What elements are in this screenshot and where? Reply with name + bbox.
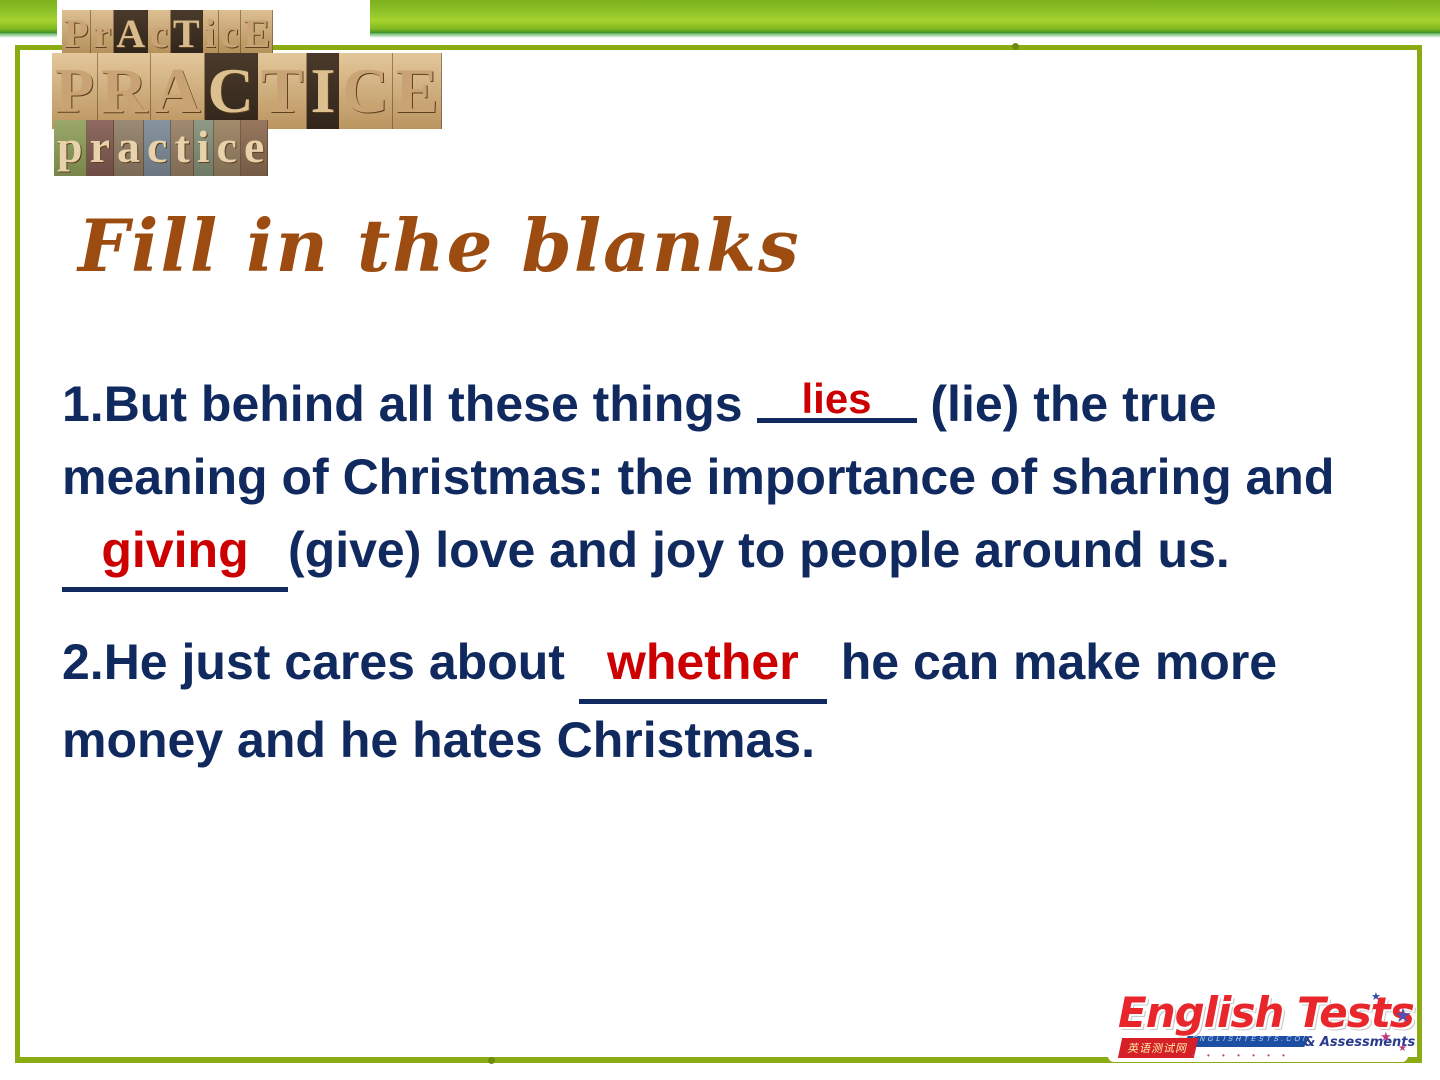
exercise-2-number: 2.	[62, 634, 104, 690]
wordart-tile: C	[205, 53, 258, 129]
wordart-tile: P	[62, 10, 91, 58]
wordart-tile: P	[52, 53, 98, 129]
logo-dot-row: • • • • • • •	[1192, 1051, 1290, 1060]
star-icon: ★	[1398, 1044, 1407, 1054]
exercise-1-text-after-blank-2: (give) love and joy to people around us.	[288, 522, 1230, 578]
wordart-tile: c	[214, 120, 241, 176]
wordart-line-2: PRACTICE	[52, 53, 442, 129]
wordart-tile: I	[307, 53, 339, 129]
exercise-list: 1.But behind all these things lies (lie)…	[62, 368, 1372, 777]
wordart-line-3: practice	[54, 120, 268, 176]
wordart-tile: A	[151, 53, 204, 129]
exercise-item-1: 1.But behind all these things lies (lie)…	[62, 368, 1372, 592]
frame-dot-bottom	[488, 1057, 495, 1064]
exercise-1-number: 1.	[62, 376, 104, 432]
logo-main-text: English Tests	[1118, 988, 1414, 1037]
star-icon: ★	[1394, 1006, 1412, 1026]
frame-dot-top-right	[1012, 43, 1019, 50]
wordart-tile: T	[258, 53, 308, 129]
wordart-tile: A	[114, 10, 148, 58]
practice-wordart-image: PrAcTicE PRACTICE practice	[52, 8, 397, 183]
header-band-glow	[370, 33, 1440, 38]
wordart-tile: r	[91, 10, 114, 58]
blank-answer-whether[interactable]: whether	[579, 626, 827, 704]
wordart-tile: T	[171, 10, 203, 58]
header-band-left-glow	[0, 33, 57, 38]
exercise-item-2: 2.He just cares about whether he can mak…	[62, 626, 1372, 777]
english-tests-logo: English Tests ENGLISHTESTS.COM 英语测试网 • •…	[1108, 978, 1416, 1070]
star-icon: ★	[1380, 1030, 1392, 1043]
wordart-tile: c	[219, 10, 242, 58]
exercise-1-text-before-blank-1: But behind all these things	[104, 376, 757, 432]
header-band-left-segment	[0, 0, 57, 33]
blank-answer-giving[interactable]: giving	[62, 514, 288, 592]
wordart-tile: i	[203, 10, 219, 58]
logo-chinese-badge: 英语测试网	[1118, 1038, 1198, 1058]
header-green-band	[370, 0, 1440, 33]
page-title: Fill in the blanks	[78, 203, 801, 288]
logo-bar-text: ENGLISHTESTS.COM	[1191, 1036, 1305, 1043]
wordart-tile: C	[339, 53, 392, 129]
wordart-tile: i	[194, 120, 214, 176]
wordart-tile: p	[54, 120, 87, 176]
wordart-tile: E	[393, 53, 443, 129]
blank-answer-lies[interactable]: lies	[757, 380, 917, 423]
wordart-tile: t	[171, 120, 193, 176]
wordart-tile: a	[114, 120, 144, 176]
wordart-line-1: PrAcTicE	[62, 10, 273, 58]
wordart-tile: E	[241, 10, 273, 58]
wordart-tile: c	[144, 120, 171, 176]
wordart-tile: r	[87, 120, 114, 176]
wordart-tile: R	[98, 53, 151, 129]
wordart-tile: e	[241, 120, 268, 176]
wordart-tile: c	[148, 10, 171, 58]
star-icon: ★	[1371, 992, 1381, 1003]
exercise-2-text-before-blank: He just cares about	[104, 634, 579, 690]
